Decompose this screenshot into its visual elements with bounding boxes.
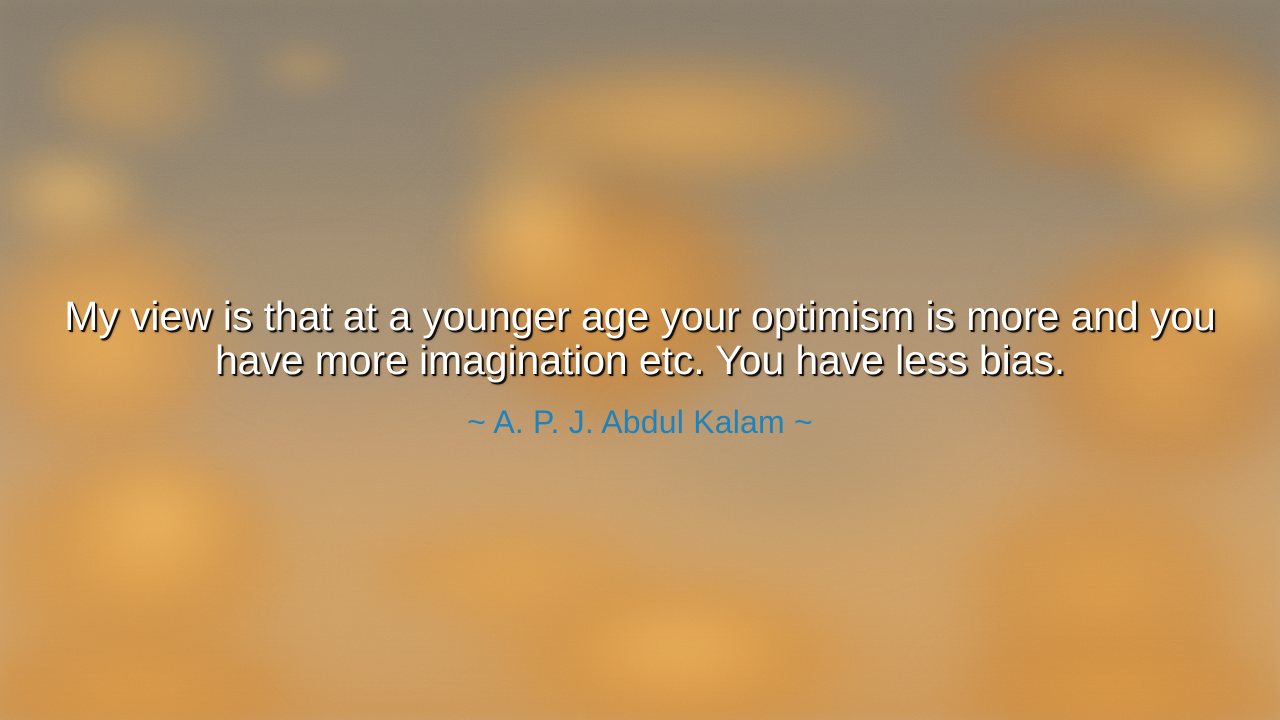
- quote-text: My view is that at a younger age your op…: [40, 294, 1240, 382]
- quote-card: My view is that at a younger age your op…: [0, 0, 1280, 720]
- quote-attribution: ~ A. P. J. Abdul Kalam ~: [40, 382, 1240, 441]
- quote-block: My view is that at a younger age your op…: [0, 294, 1280, 441]
- top-cool-wash: [0, 0, 1280, 230]
